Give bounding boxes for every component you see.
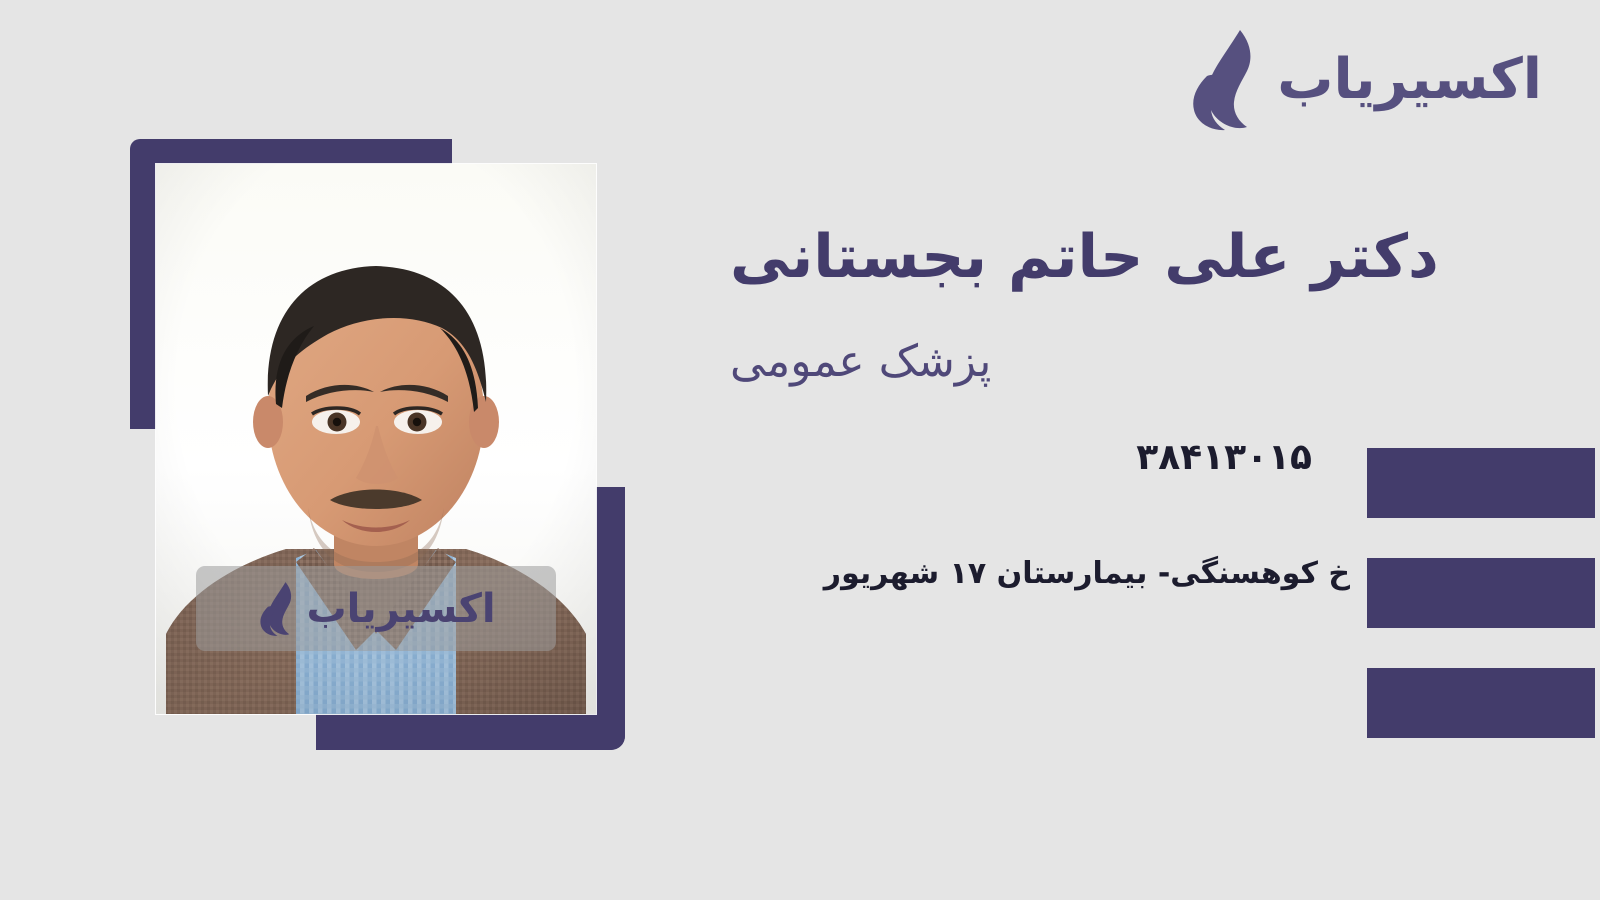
accent-square-bottom-right-foot [316,714,625,750]
doctor-name: دکتر علی حاتم بجستانی [730,222,1520,293]
doctor-specialty: پزشک عمومی [730,336,1520,389]
doctor-address: خ کوهسنگی- بیمارستان ۱۷ شهریور [824,556,1350,592]
accent-bar-3 [1367,668,1595,738]
photo-block: اکسیریاب [0,0,700,900]
photo-watermark: اکسیریاب [196,566,556,651]
doctor-profile-card: اکسیریاب [0,0,1600,900]
watermark-flame-droplet-icon [256,580,300,638]
accent-bar-2 [1367,558,1595,628]
accent-bar-1 [1367,448,1595,518]
watermark-brand-label: اکسیریاب [306,589,495,629]
doctor-info-panel: دکتر علی حاتم بجستانی پزشک عمومی ۳۸۴۱۳۰۱… [700,0,1600,900]
doctor-phone[interactable]: ۳۸۴۱۳۰۱۵ [1136,440,1312,476]
